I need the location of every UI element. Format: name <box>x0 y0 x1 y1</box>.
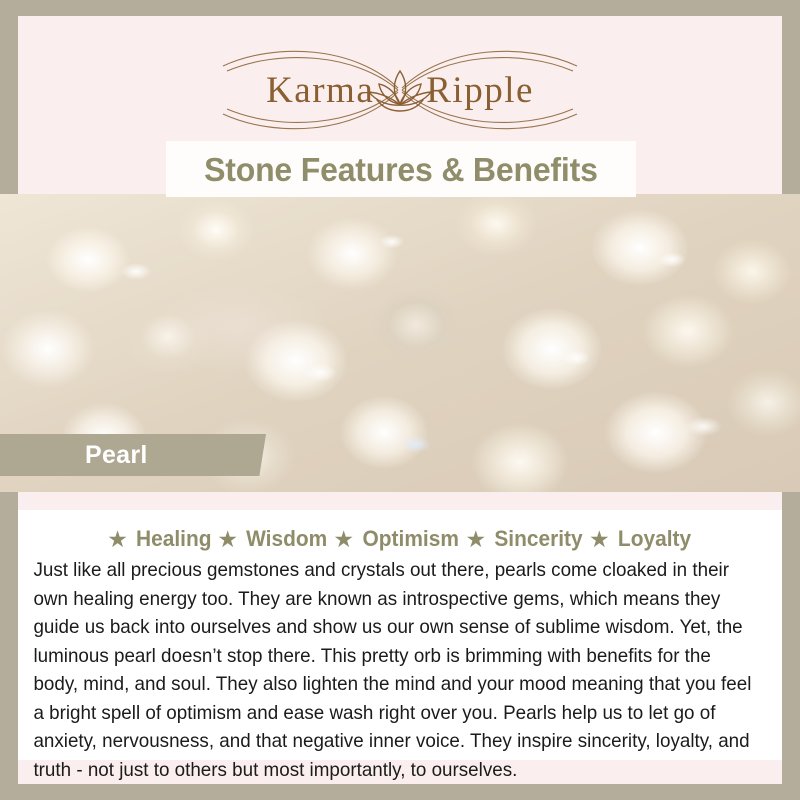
star-icon: ★ <box>217 528 238 551</box>
brand-name: Karma Ripple <box>266 69 534 112</box>
keyword-item: ★ Healing <box>107 526 213 552</box>
infographic-poster: Karma Ripple Stone Features & Be <box>0 0 800 800</box>
keyword-label: Loyalty <box>618 526 691 552</box>
keyword-item: ★ Loyalty <box>589 526 693 552</box>
star-icon: ★ <box>465 528 486 551</box>
page-title: Stone Features & Benefits <box>204 153 598 186</box>
title-banner: Stone Features & Benefits <box>166 141 636 197</box>
star-icon: ★ <box>107 528 128 551</box>
brand-word-ripple: Ripple <box>426 69 534 112</box>
keyword-label: Healing <box>136 526 211 552</box>
keyword-label: Sincerity <box>494 526 582 552</box>
keyword-item: ★ Sincerity <box>465 526 585 552</box>
stone-name-label: Pearl <box>0 441 148 470</box>
keyword-list: ★ Healing ★ Wisdom ★ Optimism ★ Sincerit… <box>18 510 782 554</box>
body-paragraph: Just like all precious gemstones and cry… <box>18 554 768 784</box>
brand-logo: Karma Ripple <box>18 38 782 142</box>
keyword-label: Optimism <box>363 526 459 552</box>
brand-logo-inner: Karma Ripple <box>160 38 640 142</box>
keyword-label: Wisdom <box>246 526 327 552</box>
star-icon: ★ <box>333 528 354 551</box>
keyword-item: ★ Optimism <box>333 526 461 552</box>
pearl-stones-photo: Pearl <box>0 194 800 492</box>
star-icon: ★ <box>589 528 610 551</box>
content-panel: ★ Healing ★ Wisdom ★ Optimism ★ Sincerit… <box>18 510 782 760</box>
poster-page: Karma Ripple Stone Features & Be <box>18 16 782 784</box>
brand-word-karma: Karma <box>266 69 374 112</box>
stone-name-tag: Pearl <box>0 434 266 476</box>
keyword-item: ★ Wisdom <box>217 526 329 552</box>
